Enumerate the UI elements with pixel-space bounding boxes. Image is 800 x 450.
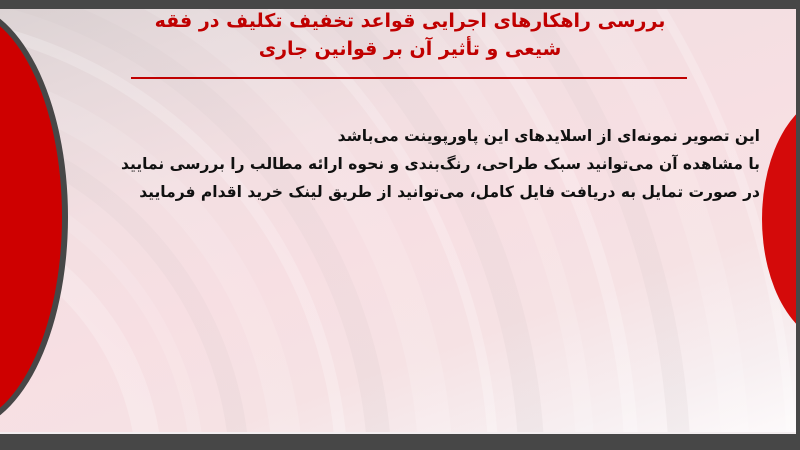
background-swoosh-pattern xyxy=(0,9,796,433)
frame-band-top xyxy=(0,0,800,9)
swoosh-arcs-svg xyxy=(0,9,796,433)
slide-body-line-1: این تصویر نمونه‌ای از اسلایدهای این پاور… xyxy=(120,122,760,150)
slide-title: بررسی راهکارهای اجرایی قواعد تخفیف تکلیف… xyxy=(130,8,690,63)
slide-background xyxy=(0,9,796,433)
slide-body-line-2: با مشاهده آن می‌توانید سبک طراحی، رنگ‌بن… xyxy=(120,150,760,178)
slide-title-line-1: بررسی راهکارهای اجرایی قواعد تخفیف تکلیف… xyxy=(130,8,690,36)
slide-body-line-3: در صورت تمایل به دریافت فایل کامل، می‌تو… xyxy=(120,178,760,206)
presentation-slide: بررسی راهکارهای اجرایی قواعد تخفیف تکلیف… xyxy=(0,0,800,450)
frame-band-bottom xyxy=(0,434,800,450)
slide-title-line-2: شیعی و تأثیر آن بر قوانین جاری xyxy=(130,36,690,64)
slide-body-text: این تصویر نمونه‌ای از اسلایدهای این پاور… xyxy=(120,122,760,207)
frame-band-right xyxy=(796,0,800,450)
title-underline-rule xyxy=(131,77,687,79)
